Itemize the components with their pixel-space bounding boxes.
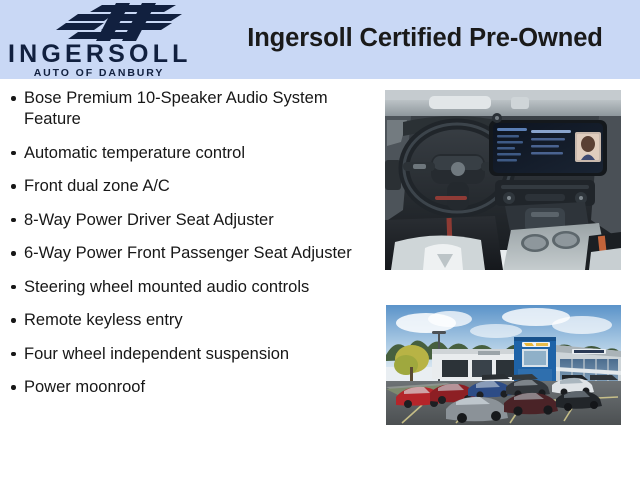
bullet-icon xyxy=(11,285,16,290)
bullet-icon xyxy=(11,318,16,323)
feature-label: 6-Way Power Front Passenger Seat Adjuste… xyxy=(24,244,352,262)
feature-label: Power moonroof xyxy=(24,378,145,396)
list-item: Bose Premium 10-Speaker Audio System Fea… xyxy=(0,88,372,130)
bullet-icon xyxy=(11,385,16,390)
feature-label: Four wheel independent suspension xyxy=(24,345,289,363)
list-item: 8-Way Power Driver Seat Adjuster xyxy=(0,210,372,231)
logo-wordmark: INGERSOLL xyxy=(8,41,190,68)
dealership-exterior-photo[interactable] xyxy=(386,305,621,425)
list-item: 6-Way Power Front Passenger Seat Adjuste… xyxy=(0,243,372,264)
logo-tagline: AUTO OF DANBURY xyxy=(8,67,190,79)
list-item: Power moonroof xyxy=(0,377,372,398)
vehicle-feature-list: Bose Premium 10-Speaker Audio System Fea… xyxy=(0,88,372,411)
bullet-icon xyxy=(11,184,16,189)
bullet-icon xyxy=(11,352,16,357)
feature-label: Bose Premium 10-Speaker Audio System Fea… xyxy=(24,89,328,128)
list-item: Four wheel independent suspension xyxy=(0,344,372,365)
feature-label: Remote keyless entry xyxy=(24,311,183,329)
bullet-icon xyxy=(11,151,16,156)
ingersoll-winged-emblem-icon xyxy=(44,3,184,41)
list-item: Remote keyless entry xyxy=(0,310,372,331)
dealer-logo: INGERSOLL AUTO OF DANBURY xyxy=(8,3,190,77)
bullet-icon xyxy=(11,251,16,256)
list-item: Automatic temperature control xyxy=(0,143,372,164)
page-title: Ingersoll Certified Pre-Owned xyxy=(225,24,625,53)
feature-label: Steering wheel mounted audio controls xyxy=(24,278,309,296)
feature-label: Automatic temperature control xyxy=(24,144,245,162)
bullet-icon xyxy=(11,218,16,223)
list-item: Steering wheel mounted audio controls xyxy=(0,277,372,298)
vehicle-interior-photo[interactable] xyxy=(385,90,621,270)
bullet-icon xyxy=(11,96,16,101)
feature-label: 8-Way Power Driver Seat Adjuster xyxy=(24,211,274,229)
feature-label: Front dual zone A/C xyxy=(24,177,170,195)
list-item: Front dual zone A/C xyxy=(0,176,372,197)
